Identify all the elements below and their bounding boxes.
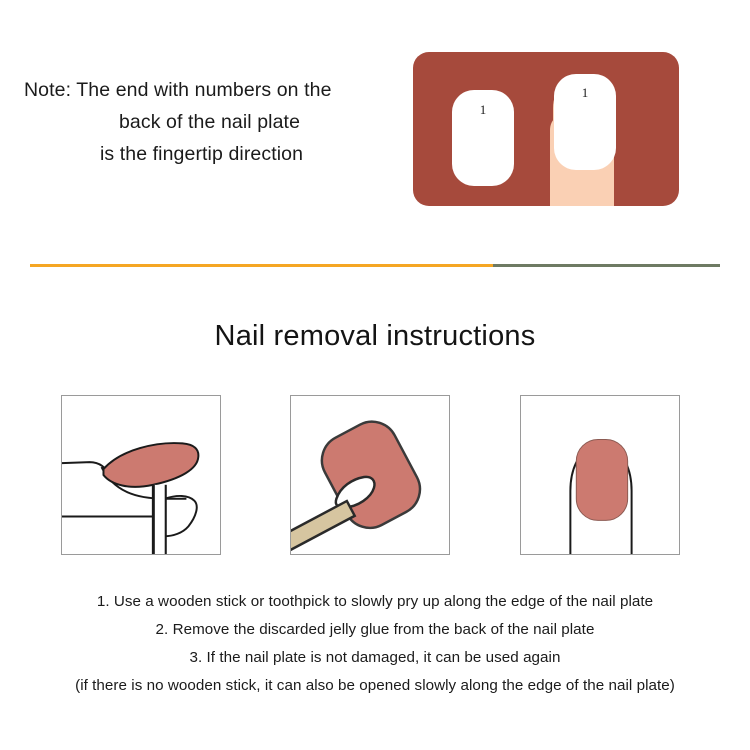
section-divider [30, 264, 720, 267]
divider-segment-orange [30, 264, 493, 267]
step-box-1 [61, 395, 221, 555]
right-nail-number: 1 [582, 85, 589, 100]
top-note-section: Note: The end with numbers on the back o… [0, 0, 750, 250]
step-box-2 [290, 395, 450, 555]
instruction-line-2: 2. Remove the discarded jelly glue from … [0, 616, 750, 644]
wooden-stick-body [154, 485, 166, 554]
instruction-line-1: 1. Use a wooden stick or toothpick to sl… [0, 588, 750, 616]
page-title: Nail removal instructions [0, 320, 750, 353]
note-text-block: Note: The end with numbers on the back o… [14, 74, 389, 170]
step-box-3 [520, 395, 680, 555]
note-line-1: Note: The end with numbers on the [14, 74, 389, 106]
note-line-2: back of the nail plate [14, 106, 389, 138]
note-line-3: is the fingertip direction [14, 138, 389, 170]
nail-side-flap [165, 496, 197, 536]
instruction-list: 1. Use a wooden stick or toothpick to sl… [0, 588, 750, 700]
instruction-line-4: (if there is no wooden stick, it can als… [0, 672, 750, 700]
instruction-line-3: 3. If the nail plate is not damaged, it … [0, 644, 750, 672]
nail-plate-shape [576, 439, 627, 520]
step-illustrations-row [61, 395, 689, 560]
left-nail-number: 1 [480, 102, 487, 117]
wooden-stick-shape [291, 501, 355, 554]
divider-segment-green [493, 264, 720, 267]
lifted-nail-shape [103, 443, 198, 487]
nail-plate-card-illustration: 1 1 [413, 52, 679, 206]
